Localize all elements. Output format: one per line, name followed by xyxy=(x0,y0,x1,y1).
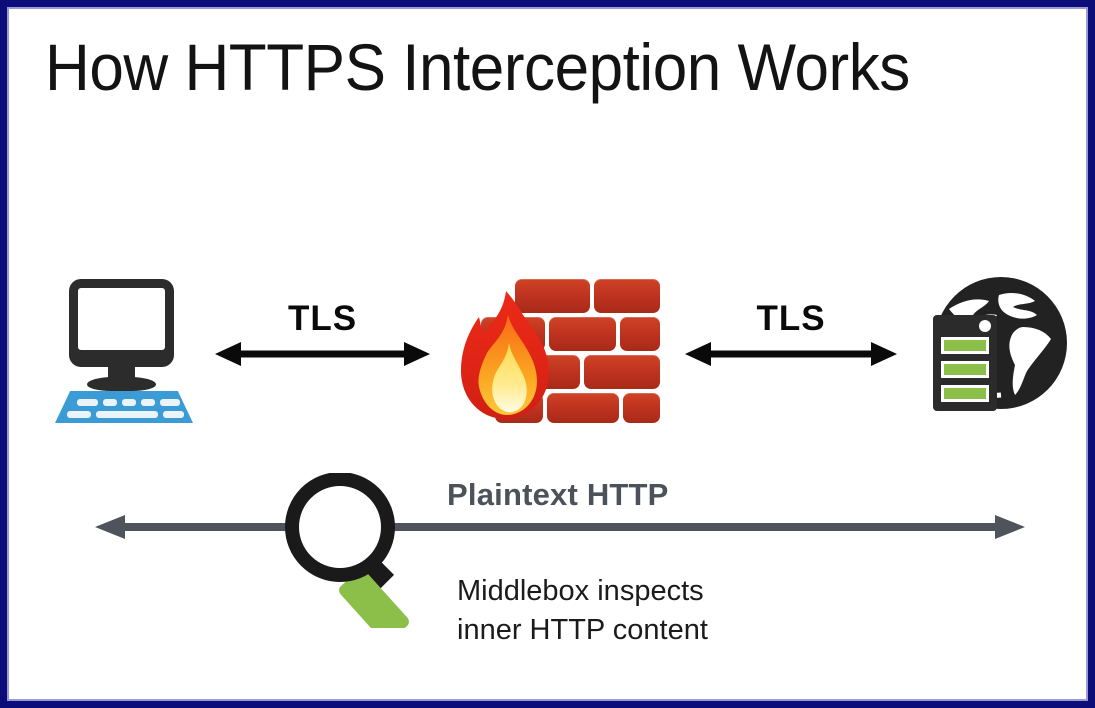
firewall-middlebox xyxy=(459,275,664,423)
flame-icon xyxy=(459,289,551,421)
tls-link-left: TLS xyxy=(215,299,430,374)
monitor-base xyxy=(87,377,156,391)
web-server-globe xyxy=(927,275,1067,417)
annotation-caption: Middlebox inspects inner HTTP content xyxy=(457,572,708,650)
plaintext-arrow-icon xyxy=(95,512,1025,542)
monitor-bezel-icon xyxy=(69,279,174,367)
tls-right-label: TLS xyxy=(685,299,897,339)
caption-line-2: inner HTTP content xyxy=(457,611,708,650)
tls-left-arrow-icon xyxy=(215,341,430,367)
magnifying-glass-icon xyxy=(285,473,445,628)
caption-line-1: Middlebox inspects xyxy=(457,572,708,611)
tls-link-right: TLS xyxy=(685,299,897,374)
plaintext-http-label: Plaintext HTTP xyxy=(447,477,669,513)
page-title: How HTTPS Interception Works xyxy=(45,29,910,105)
keyboard-icon xyxy=(55,391,193,423)
monitor-screen xyxy=(78,288,165,350)
tls-right-arrow-icon xyxy=(685,341,897,367)
server-rack-icon xyxy=(933,315,997,411)
tls-left-label: TLS xyxy=(215,299,430,339)
diagram-slide: How HTTPS Interception Works TLS xyxy=(0,0,1095,708)
client-computer xyxy=(55,279,200,419)
